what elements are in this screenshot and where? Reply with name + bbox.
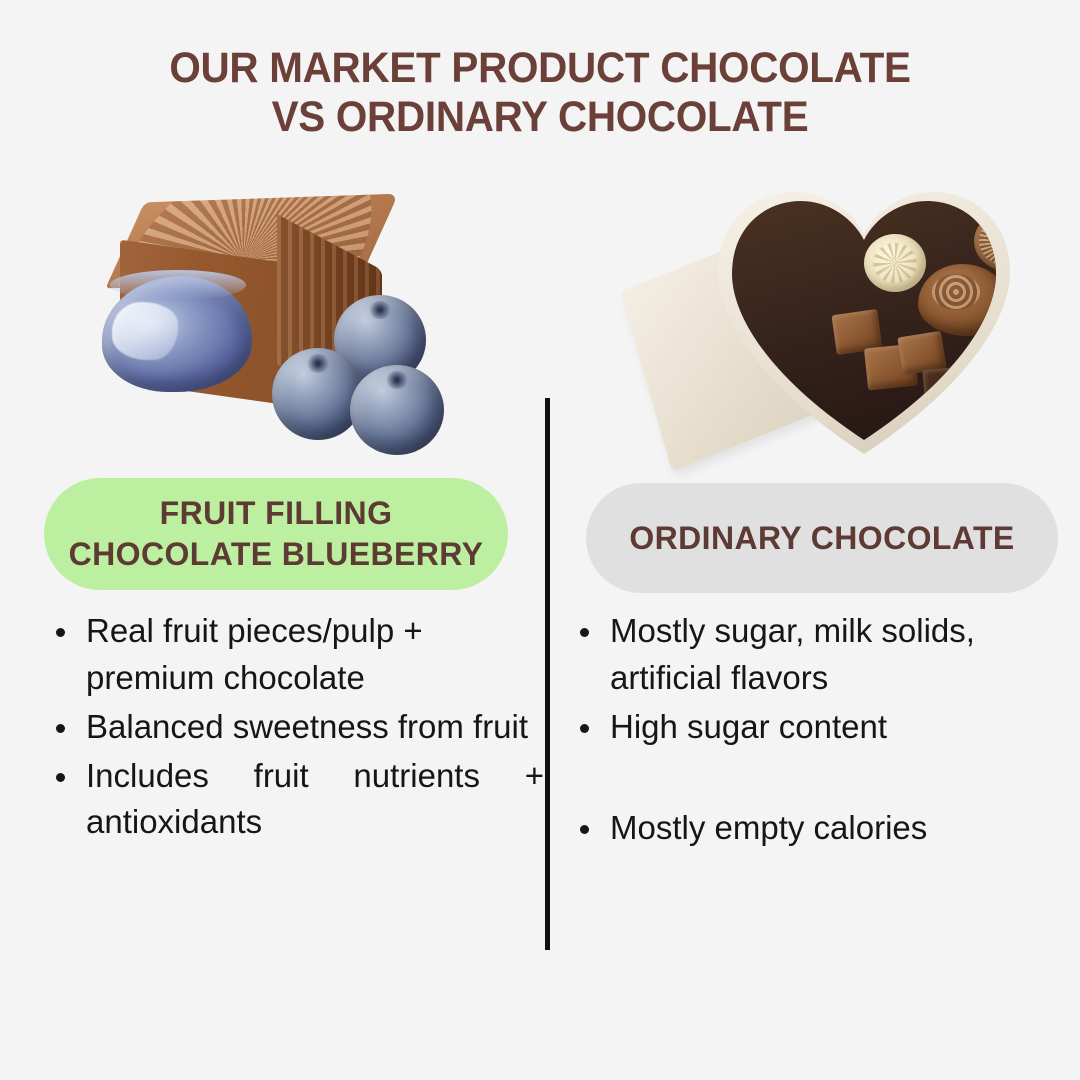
list-item: High sugar content (562, 704, 1052, 751)
infographic-canvas: OUR MARKET PRODUCT CHOCOLATE VS ORDINARY… (0, 0, 1080, 1080)
left-benefits-column: Real fruit pieces/pulp + premium chocola… (38, 608, 544, 848)
blueberry (272, 348, 364, 440)
dark-square-chocolate (948, 390, 1001, 436)
list-item-text: Mostly sugar, milk solids, artificial fl… (610, 612, 975, 696)
list-item: Balanced sweetness from fruit (38, 704, 544, 751)
left-category-badge: FRUIT FILLINGCHOCOLATE BLUEBERRY (44, 478, 508, 590)
white-flower-chocolate (864, 234, 926, 292)
heart-shaped-chocolate (990, 336, 1044, 386)
page-title: OUR MARKET PRODUCT CHOCOLATE VS ORDINARY… (0, 44, 1080, 142)
list-item-text: Balanced sweetness from fruit (86, 708, 528, 745)
blueberry-filling (102, 276, 252, 392)
right-category-badge: ORDINARY CHOCOLATE (586, 483, 1058, 593)
list-item: Mostly empty calories (562, 805, 1052, 852)
left-badge-line-1: FRUIT FILLING (160, 495, 393, 531)
list-item-text: Includes fruit nutrients + antioxidants (86, 757, 544, 841)
list-item-text: High sugar content (610, 708, 887, 745)
title-line-2: VS ORDINARY CHOCOLATE (32, 93, 1047, 142)
left-badge-label: FRUIT FILLINGCHOCOLATE BLUEBERRY (69, 493, 484, 575)
vertical-divider (545, 398, 550, 950)
right-badge-label: ORDINARY CHOCOLATE (629, 520, 1014, 557)
fruit-chocolate-image (72, 190, 492, 465)
list-item: Includes fruit nutrients + antioxidants (38, 753, 544, 847)
left-points-list: Real fruit pieces/pulp + premium chocola… (38, 608, 544, 846)
square-chocolate (1016, 285, 1072, 331)
list-item-text: Mostly empty calories (610, 809, 927, 846)
list-item: Real fruit pieces/pulp + premium chocola… (38, 608, 544, 702)
list-item: Mostly sugar, milk solids, artificial fl… (562, 608, 1052, 702)
blueberry (350, 365, 444, 455)
ordinary-chocolate-image (636, 186, 1056, 476)
right-drawbacks-column: Mostly sugar, milk solids, artificial fl… (562, 608, 1052, 853)
left-badge-line-2: CHOCOLATE BLUEBERRY (69, 536, 484, 572)
right-points-list: Mostly sugar, milk solids, artificial fl… (562, 608, 1052, 851)
list-item-text: Real fruit pieces/pulp + premium chocola… (86, 612, 423, 696)
title-line-1: OUR MARKET PRODUCT CHOCOLATE (32, 44, 1047, 93)
